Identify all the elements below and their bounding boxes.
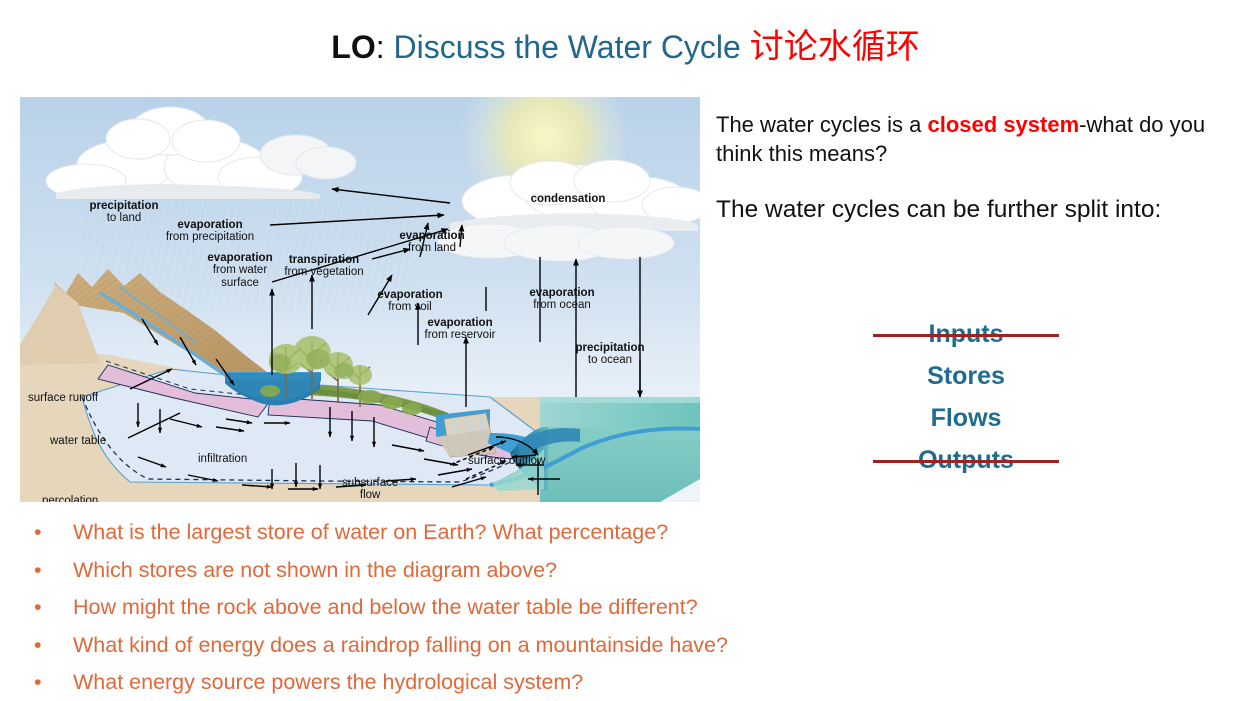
label-evaporation-from-precipitation: evaporation from precipitation [166,219,254,244]
label-precipitation-to-ocean: precipitation to ocean [575,342,644,367]
para1-before: The water cycles is a [716,112,928,137]
label-condensation: condensation [531,193,606,205]
label-bold: evaporation [166,219,254,231]
label-normal: from reservoir [425,329,496,341]
label-normal: infiltration [198,453,247,465]
label-infiltration: infiltration [198,453,247,465]
list-item: • What is the largest store of water on … [28,514,1028,552]
label-normal: subsurface [342,477,398,489]
label-normal: percolation [42,495,98,502]
label-evaporation-from-reservoir: evaporation from reservoir [425,317,496,342]
list-item-stores[interactable]: Stores [716,355,1216,397]
label-normal: from ocean [529,299,594,311]
label-bold: evaporation [399,230,464,242]
list-item: • What kind of energy does a raindrop fa… [28,627,1028,665]
label-bold: evaporation [194,252,286,264]
label-transpiration-from-vegetation: transpiration from vegetation [284,254,363,279]
bullet-text: Which stores are not shown in the diagra… [73,558,557,582]
list-item: • What energy source powers the hydrolog… [28,664,1028,701]
label-bold: transpiration [284,254,363,266]
label-normal: from land [399,242,464,254]
title-english: Discuss the Water Cycle [393,29,749,65]
water-cycle-illustration [20,97,700,502]
label-normal: from soil [377,301,442,313]
bullet-icon: • [34,664,42,701]
bullet-icon: • [34,627,42,665]
label-normal: to land [89,212,158,224]
label-bold: evaporation [377,289,442,301]
list-item-flows[interactable]: Flows [716,397,1216,439]
bullet-text: What is the largest store of water on Ea… [73,520,668,544]
closed-system-highlight: closed system [928,112,1080,137]
question-bullet-list: • What is the largest store of water on … [28,514,1028,701]
split-into-paragraph: The water cycles can be further split in… [716,168,1216,226]
right-text-panel: The water cycles is a closed system-what… [716,110,1216,226]
list-item-inputs[interactable]: Inputs [716,313,1216,355]
label-bold: evaporation [529,287,594,299]
page-title: LO: Discuss the Water Cycle 讨论水循环 [0,26,1251,68]
water-cycle-diagram: precipitation to land evaporation from p… [20,97,700,502]
title-chinese: 讨论水循环 [750,28,920,66]
label-bold: condensation [531,193,606,205]
label-bold: evaporation [425,317,496,329]
label-normal: from water surface [194,264,286,289]
slide-canvas: LO: Discuss the Water Cycle 讨论水循环 [0,0,1251,701]
title-lo: LO [331,29,375,65]
label-normal: surface runoff [28,392,98,404]
list-item: • How might the rock above and below the… [28,589,1028,627]
label-normal: from precipitation [166,231,254,243]
list-item: • Which stores are not shown in the diag… [28,552,1028,590]
label-percolation: percolation (deep) [42,495,98,502]
label-normal: from vegetation [284,266,363,278]
water-cycle-component-list: Inputs Stores Flows Outputs [716,313,1216,481]
bullet-icon: • [34,589,42,627]
bullet-text: How might the rock above and below the w… [73,595,698,619]
label-precipitation-to-land: precipitation to land [89,200,158,225]
label-bold: precipitation [89,200,158,212]
label-normal: water table [50,435,106,447]
label-evaporation-from-soil: evaporation from soil [377,289,442,314]
title-colon: : [376,29,394,65]
label-evaporation-from-land: evaporation from land [399,230,464,255]
label-evaporation-from-ocean: evaporation from ocean [529,287,594,312]
bullet-icon: • [34,514,42,552]
label-evaporation-from-water-surface: evaporation from water surface [194,252,286,289]
strikethrough-line [873,460,1059,463]
label-water-table: water table [50,435,106,447]
label-subsurface-flow: subsurface flow [342,477,398,502]
strikethrough-line [873,334,1059,337]
label-normal: to ocean [575,354,644,366]
label-surface-outflow: surface outflow [468,455,545,467]
list-item-outputs[interactable]: Outputs [716,439,1216,481]
word-label: Stores [927,362,1005,390]
bullet-icon: • [34,552,42,590]
label-bold: precipitation [575,342,644,354]
bullet-text: What energy source powers the hydrologic… [73,670,583,694]
word-label: Flows [931,404,1002,432]
bullet-text: What kind of energy does a raindrop fall… [73,633,728,657]
label-surface-runoff: surface runoff [28,392,98,404]
label-normal-2: flow [342,489,398,501]
closed-system-paragraph: The water cycles is a closed system-what… [716,110,1216,168]
label-normal: surface outflow [468,455,545,467]
